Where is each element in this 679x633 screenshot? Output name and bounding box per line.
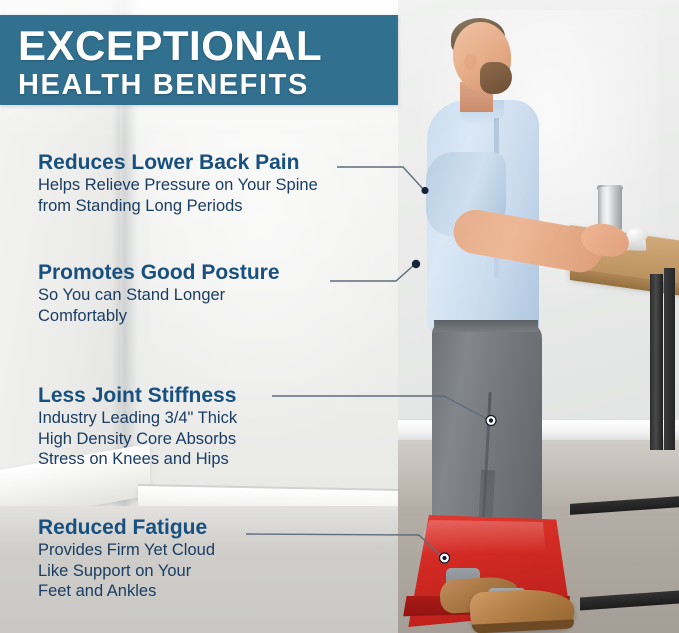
benefit-line: from Standing Long Periods	[38, 196, 318, 217]
benefit-line: Helps Relieve Pressure on Your Spine	[38, 175, 318, 196]
benefit-block-joint-stiffness: Less Joint Stiffness Industry Leading 3/…	[38, 383, 237, 470]
benefit-title: Reduced Fatigue	[38, 515, 215, 540]
desk-leg-column-rear	[664, 268, 675, 450]
mat-highlight	[410, 520, 550, 554]
headline-secondary: HEALTH BENEFITS	[18, 69, 398, 102]
waistband	[434, 320, 538, 332]
headline-banner: EXCEPTIONAL HEALTH BENEFITS	[0, 15, 398, 105]
benefit-line: Industry Leading 3/4" Thick	[38, 408, 237, 429]
headline-primary: EXCEPTIONAL	[18, 23, 398, 69]
benefit-block-reduced-fatigue: Reduced Fatigue Provides Firm Yet Cloud …	[38, 515, 215, 602]
benefit-line: Stress on Knees and Hips	[38, 449, 237, 470]
benefit-block-lower-back: Reduces Lower Back Pain Helps Relieve Pr…	[38, 150, 318, 216]
ear	[464, 54, 477, 70]
benefit-line: So You can Stand Longer	[38, 285, 280, 306]
desk-leg-column	[650, 274, 663, 450]
infographic-canvas: EXCEPTIONAL HEALTH BENEFITS Reduces Lowe…	[0, 0, 679, 633]
benefit-line: Like Support on Your	[38, 561, 215, 582]
product-photo	[398, 0, 679, 633]
benefit-title: Promotes Good Posture	[38, 260, 280, 285]
benefit-line: Provides Firm Yet Cloud	[38, 540, 215, 561]
benefit-block-posture: Promotes Good Posture So You can Stand L…	[38, 260, 280, 326]
benefit-line: High Density Core Absorbs	[38, 429, 237, 450]
benefit-line: Feet and Ankles	[38, 581, 215, 602]
benefit-line: Comfortably	[38, 306, 280, 327]
benefit-title: Less Joint Stiffness	[38, 383, 237, 408]
benefit-title: Reduces Lower Back Pain	[38, 150, 318, 175]
